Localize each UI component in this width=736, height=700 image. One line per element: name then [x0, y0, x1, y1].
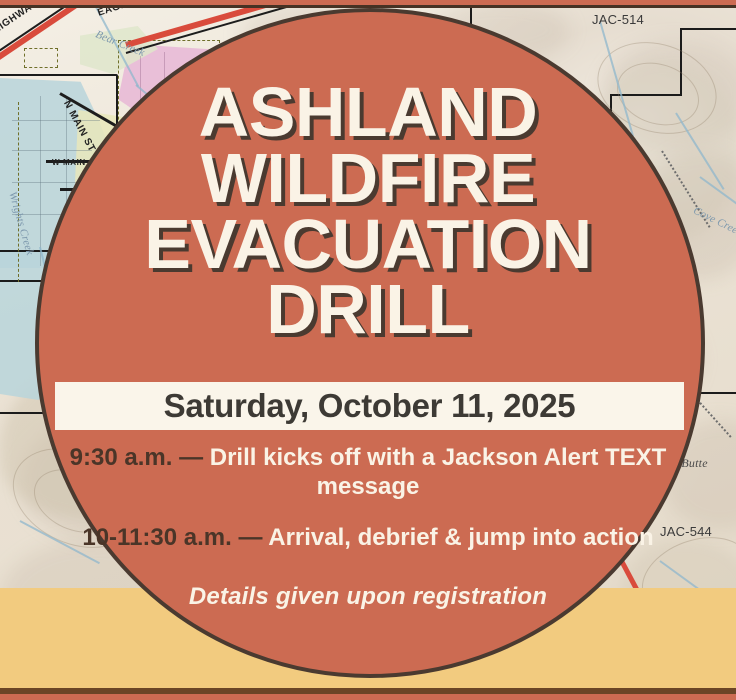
event-date-text: Saturday, October 11, 2025 [164, 387, 576, 425]
poster-root: JAC-514 JAC-544 HIGHWAY 99 N N MAIN ST E… [0, 0, 736, 700]
schedule-time: 10-11:30 a.m. [82, 524, 231, 551]
schedule-item: 10-11:30 a.m. — Arrival, debrief & jump … [68, 524, 668, 553]
schedule-item: 9:30 a.m. — Drill kicks off with a Jacks… [68, 444, 668, 502]
event-date-banner: Saturday, October 11, 2025 [55, 382, 684, 430]
schedule-description: Drill kicks off with a Jackson Alert TEX… [210, 444, 667, 500]
schedule-separator: — [172, 444, 209, 471]
headline-line-3: EVACUATION [0, 212, 736, 278]
headline-line-1: ASHLAND [0, 80, 736, 146]
top-trim-dark [0, 5, 736, 8]
event-schedule: 9:30 a.m. — Drill kicks off with a Jacks… [68, 444, 668, 564]
schedule-separator: — [232, 524, 268, 551]
schedule-description: Arrival, debrief & jump into action [268, 524, 653, 551]
headline-line-2: WILDFIRE [0, 146, 736, 212]
schedule-time: 9:30 a.m. [70, 444, 173, 471]
registration-note: Details given upon registration [68, 583, 668, 611]
headline-line-4: DRILL [0, 277, 736, 343]
poster-content: ASHLAND WILDFIRE EVACUATION DRILL Saturd… [0, 0, 736, 700]
bottom-trim-salmon [0, 694, 736, 700]
page-title: ASHLAND WILDFIRE EVACUATION DRILL [0, 80, 736, 343]
